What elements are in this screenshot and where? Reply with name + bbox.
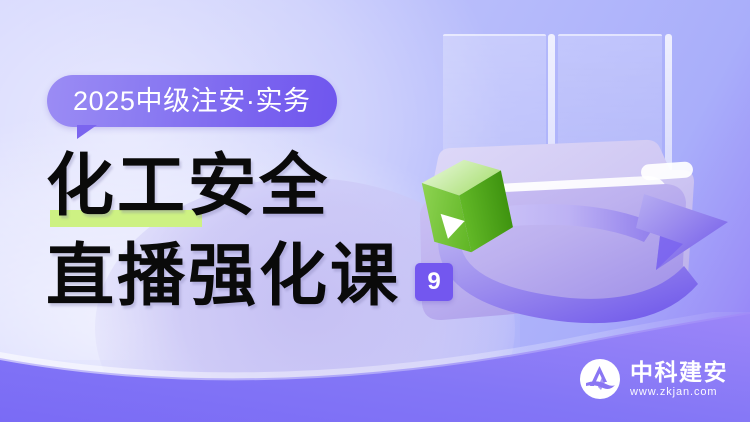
course-category-badge: 2025中级注安·实务 (47, 75, 337, 127)
brand-name: 中科建安 (630, 360, 728, 385)
headline-line-2: 直播强化课 (46, 238, 401, 314)
headline-line-1: 化工安全 (46, 148, 330, 224)
course-category-label: 2025中级注安·实务 (73, 88, 311, 115)
brand-logo-text: 中科建安 www.zkjan.com (630, 360, 728, 399)
headline-line-1-row: 化工安全 (46, 148, 476, 230)
brand-logo: 中科建安 www.zkjan.com (579, 358, 728, 400)
headline-block: 化工安全 直播强化课 9 (46, 148, 476, 314)
headline-line-2-row: 直播强化课 9 (46, 232, 476, 314)
brand-website: www.zkjan.com (630, 385, 728, 399)
mountain-arrow-circle-icon (579, 358, 621, 400)
badge-tail (77, 125, 97, 139)
course-promo-banner: 2025中级注安·实务 化工安全 直播强化课 9 中科建安 www.zkjan.… (0, 0, 750, 422)
episode-number-badge: 9 (415, 263, 453, 301)
